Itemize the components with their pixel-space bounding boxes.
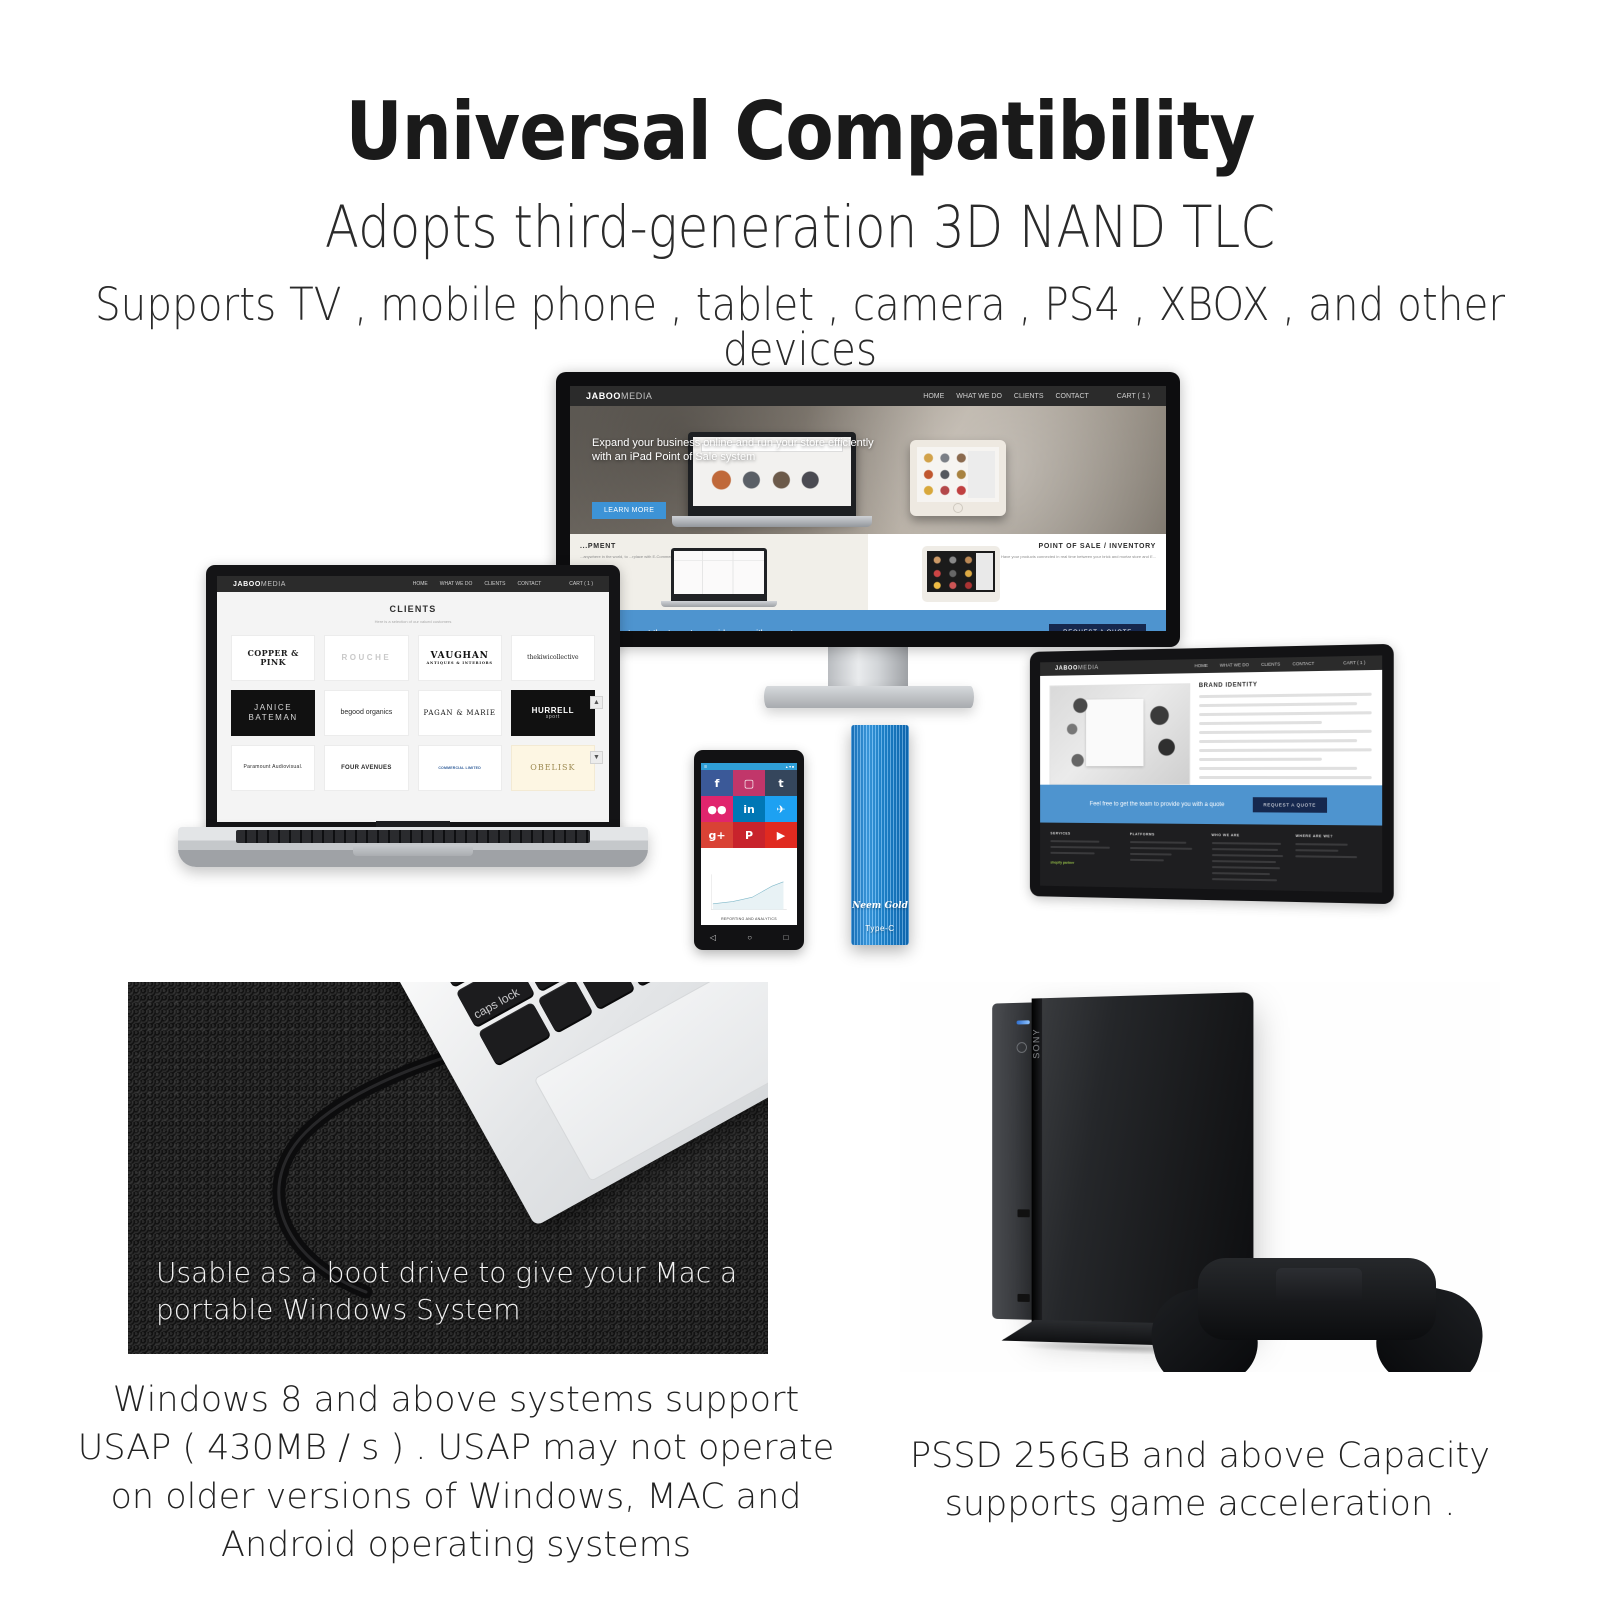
text-line	[1199, 739, 1358, 743]
monitor-site-nav: JABOOMEDIA HOME WHAT WE DO CLIENTS CONTA…	[570, 386, 1166, 406]
footer-column-title: WHERE ARE WE?	[1296, 834, 1371, 839]
ps4-photo-panel: SONY	[900, 982, 1500, 1372]
text-line	[1199, 766, 1358, 769]
feature-laptop-image	[671, 548, 767, 602]
social-icon-grid: f ▢ t ●● in ✈ g+ P ▶	[701, 770, 797, 848]
feature-col-pos: POINT OF SALE / INVENTORY Have your prod…	[868, 534, 1166, 610]
cta-text: Feel free to get the team to provide you…	[1090, 801, 1225, 808]
client-logo-cell[interactable]: HURRELLsport	[511, 690, 595, 736]
laptop-screen: JABOOMEDIA HOME WHAT WE DO CLIENTS CONTA…	[217, 576, 609, 822]
instagram-icon[interactable]: ▢	[733, 770, 765, 796]
pinterest-icon[interactable]: P	[733, 822, 765, 848]
client-logo-grid: COPPER & PINK ROUCHE VAUGHANANTIQUES & I…	[217, 624, 609, 791]
laptop-lid: JABOOMEDIA HOME WHAT WE DO CLIENTS CONTA…	[206, 565, 620, 833]
boot-drive-photo-panel: tab caps lock Q A S D V	[128, 982, 768, 1354]
client-name: JANICE BATEMAN	[234, 703, 312, 723]
client-logo-cell[interactable]: JANICE BATEMAN	[231, 690, 315, 736]
phone-nav-bar: ◁ ○ □	[694, 925, 804, 950]
desktop-monitor: JABOOMEDIA HOME WHAT WE DO CLIENTS CONTA…	[556, 372, 1180, 647]
tablet-cta-bar: Feel free to get the team to provide you…	[1040, 785, 1382, 826]
device-scene: JABOOMEDIA HOME WHAT WE DO CLIENTS CONTA…	[0, 360, 1600, 970]
recents-icon[interactable]: □	[783, 933, 788, 942]
back-icon[interactable]: ◁	[710, 933, 716, 942]
client-logo-cell[interactable]: begood organics	[324, 690, 408, 736]
request-a-quote-button[interactable]: REQUEST A QUOTE	[1049, 624, 1146, 631]
brand-identity-copy: BRAND IDENTITY	[1199, 680, 1372, 786]
key-z[interactable]	[537, 982, 592, 1032]
analytics-chart	[701, 870, 797, 914]
nav-home[interactable]: HOME	[923, 393, 944, 400]
brand-identity-image	[1049, 683, 1189, 785]
site-logo: JABOOMEDIA	[1055, 665, 1099, 672]
youtube-icon[interactable]: ▶	[765, 822, 797, 848]
client-name: thekiwicollective	[527, 655, 578, 662]
text-line	[1199, 702, 1358, 707]
nav-what-we-do[interactable]: WHAT WE DO	[956, 393, 1002, 400]
site-menu: HOME WHAT WE DO CLIENTS CONTACT	[1195, 661, 1315, 668]
signal-icons: ▲▼■	[785, 765, 794, 769]
monitor-screen: JABOOMEDIA HOME WHAT WE DO CLIENTS CONTA…	[570, 386, 1166, 631]
nav-what-we-do[interactable]: WHAT WE DO	[440, 581, 473, 587]
chart-caption: REPORTING AND ANALYTICS	[701, 917, 797, 921]
laptop-keyboard	[236, 830, 590, 843]
analytics-line-chart	[708, 870, 790, 914]
cart-link[interactable]: CART ( 1 )	[569, 581, 593, 587]
client-name: PAGAN & MARIE	[423, 709, 495, 717]
nav-contact[interactable]: CONTACT	[1055, 393, 1088, 400]
brand-identity-title: BRAND IDENTITY	[1199, 680, 1372, 689]
tumblr-icon[interactable]: t	[765, 770, 797, 796]
googleplus-icon[interactable]: g+	[701, 822, 733, 848]
tablet-footer: SERVICES shopify partner PLATFORMS WHO W…	[1040, 823, 1382, 893]
site-menu: HOME WHAT WE DO CLIENTS CONTACT	[923, 393, 1089, 400]
hero-headline: Expand your business online and run your…	[592, 436, 892, 465]
feature-ipad-image	[922, 546, 1000, 602]
laptop-trackpad	[353, 845, 473, 856]
client-sub: ANTIQUES & INTERIORS	[427, 661, 493, 665]
ps4-usb-port	[1018, 1294, 1030, 1302]
page-title: Universal Compatibility	[96, 92, 1504, 172]
ssd-brand-logo: Neem Gold	[851, 901, 909, 911]
nav-contact[interactable]: CONTACT	[1292, 661, 1314, 667]
site-logo: JABOOMEDIA	[586, 391, 653, 401]
nav-contact[interactable]: CONTACT	[517, 581, 541, 587]
request-a-quote-button[interactable]: REQUEST A QUOTE	[1252, 797, 1327, 813]
client-logo-cell[interactable]: ROUCHE	[324, 635, 408, 681]
facebook-icon[interactable]: f	[701, 770, 733, 796]
client-logo-cell[interactable]: Paramount Audiovisual.	[231, 745, 315, 791]
footer-column: PLATFORMS	[1130, 832, 1201, 880]
scroll-down-button[interactable]: ▼	[590, 751, 603, 764]
heading-block: Universal Compatibility Adopts third-gen…	[0, 0, 1600, 372]
text-line	[1199, 757, 1322, 760]
page-subtitle-2: Supports TV , mobile phone , tablet , ca…	[80, 282, 1520, 372]
text-line	[1199, 711, 1372, 716]
linkedin-icon[interactable]: in	[733, 796, 765, 822]
ssd-device-vertical: Neem Gold Type-C	[851, 725, 909, 945]
footer-column-title: SERVICES	[1050, 831, 1119, 836]
text-line	[1199, 729, 1372, 733]
tablet-device: JABOOMEDIA HOME WHAT WE DO CLIENTS CONTA…	[1030, 644, 1394, 904]
footer-column: WHERE ARE WE?	[1296, 834, 1371, 883]
smartphone-device: ☰ ▲▼■ f ▢ t ●● in ✈ g+ P ▶	[694, 750, 804, 950]
client-logo-cell[interactable]: OBELISK	[511, 745, 595, 791]
twitter-icon[interactable]: ✈	[765, 796, 797, 822]
client-logo-cell[interactable]: PAGAN & MARIE	[418, 690, 502, 736]
text-line	[1199, 692, 1372, 697]
site-logo: JABOOMEDIA	[233, 581, 286, 588]
cart-link[interactable]: CART ( 1 )	[1343, 660, 1365, 666]
ps4-usb-port	[1018, 1209, 1030, 1217]
client-logo-cell[interactable]: VAUGHANANTIQUES & INTERIORS	[418, 635, 502, 681]
nav-clients[interactable]: CLIENTS	[1014, 393, 1044, 400]
caption-right: PSSD 256GB and above Capacity supports g…	[880, 1432, 1520, 1529]
nav-home[interactable]: HOME	[1195, 663, 1208, 668]
client-name: COPPER & PINK	[234, 649, 312, 667]
monitor-stand-neck	[828, 642, 908, 690]
footer-column-title: PLATFORMS	[1130, 832, 1201, 837]
monitor-cta-bar: Feel free to get the team to provide you…	[570, 610, 1166, 631]
scroll-up-button[interactable]: ▲	[590, 696, 603, 709]
laptop-base	[178, 827, 648, 867]
client-name: Paramount Audiovisual.	[244, 765, 303, 771]
product-infographic: Universal Compatibility Adopts third-gen…	[0, 0, 1600, 1600]
client-name: VAUGHAN	[427, 651, 493, 661]
sony-logo: SONY	[1032, 1028, 1042, 1059]
site-menu: HOME WHAT WE DO CLIENTS CONTACT	[413, 581, 542, 587]
client-name: begood organics	[340, 709, 392, 717]
monitor-feature-row: ...PMENT ...anywhere in the world, to ..…	[570, 534, 1166, 610]
laptop-device: JABOOMEDIA HOME WHAT WE DO CLIENTS CONTA…	[178, 565, 648, 870]
caption-left: Windows 8 and above systems support USAP…	[76, 1376, 836, 1569]
client-logo-cell[interactable]: COMMERCIAL LIMITED	[418, 745, 502, 791]
text-line	[1199, 720, 1322, 724]
feature-title-pos: POINT OF SALE / INVENTORY	[878, 543, 1156, 550]
ssd-interface-label: Type-C	[851, 924, 909, 933]
footer-column-title: WHO WE ARE	[1211, 833, 1284, 838]
boot-drive-overlay-text: Usable as a boot drive to give your Mac …	[156, 1255, 768, 1328]
brand-identity-section: BRAND IDENTITY	[1040, 669, 1382, 785]
page-subtitle: Adopts third-generation 3D NAND TLC	[112, 198, 1488, 256]
menu-icon[interactable]: ☰	[704, 765, 707, 769]
learn-more-button[interactable]: LEARN MORE	[592, 502, 666, 519]
client-name: COMMERCIAL LIMITED	[438, 766, 481, 770]
monitor-stand-base	[764, 686, 974, 708]
tablet-screen: JABOOMEDIA HOME WHAT WE DO CLIENTS CONTA…	[1040, 655, 1382, 892]
feature-body-pos: Have your products connected in real tim…	[878, 554, 1156, 560]
client-logo-cell[interactable]: FOUR AVENUES	[324, 745, 408, 791]
ps4-status-led	[1017, 1020, 1030, 1024]
text-line	[1199, 776, 1372, 779]
client-logo-cell[interactable]: thekiwicollective	[511, 635, 595, 681]
nav-home[interactable]: HOME	[413, 581, 428, 587]
shopify-partner-badge: shopify partner	[1050, 861, 1119, 866]
clients-page: JABOOMEDIA HOME WHAT WE DO CLIENTS CONTA…	[217, 576, 609, 822]
nav-clients[interactable]: CLIENTS	[484, 581, 505, 587]
laptop-site-nav: JABOOMEDIA HOME WHAT WE DO CLIENTS CONTA…	[217, 576, 609, 592]
ps4-left-face	[992, 1002, 1037, 1320]
cart-link[interactable]: CART ( 1 )	[1117, 393, 1150, 400]
nav-clients[interactable]: CLIENTS	[1261, 662, 1280, 667]
nav-what-we-do[interactable]: WHAT WE DO	[1220, 662, 1249, 668]
text-line	[1199, 748, 1372, 752]
footer-column: WHO WE ARE	[1211, 833, 1284, 881]
phone-screen: ☰ ▲▼■ f ▢ t ●● in ✈ g+ P ▶	[701, 763, 797, 925]
client-name: OBELISK	[530, 763, 575, 772]
controller-touchpad	[1276, 1268, 1362, 1302]
client-sub: sport	[532, 715, 574, 721]
dualshock-controller	[1152, 1232, 1482, 1372]
footer-column: SERVICES shopify partner	[1050, 831, 1119, 878]
monitor-hero-banner: Expand your business online and run your…	[570, 406, 1166, 534]
home-icon[interactable]: ○	[747, 933, 752, 942]
clients-page-title: CLIENTS	[217, 604, 609, 614]
hero-ipad-image	[910, 440, 1006, 516]
client-name: ROUCHE	[342, 653, 392, 662]
flickr-icon[interactable]: ●●	[701, 796, 733, 822]
phone-status-bar: ☰ ▲▼■	[701, 763, 797, 770]
client-name: FOUR AVENUES	[341, 765, 392, 772]
client-logo-cell[interactable]: COPPER & PINK	[231, 635, 315, 681]
